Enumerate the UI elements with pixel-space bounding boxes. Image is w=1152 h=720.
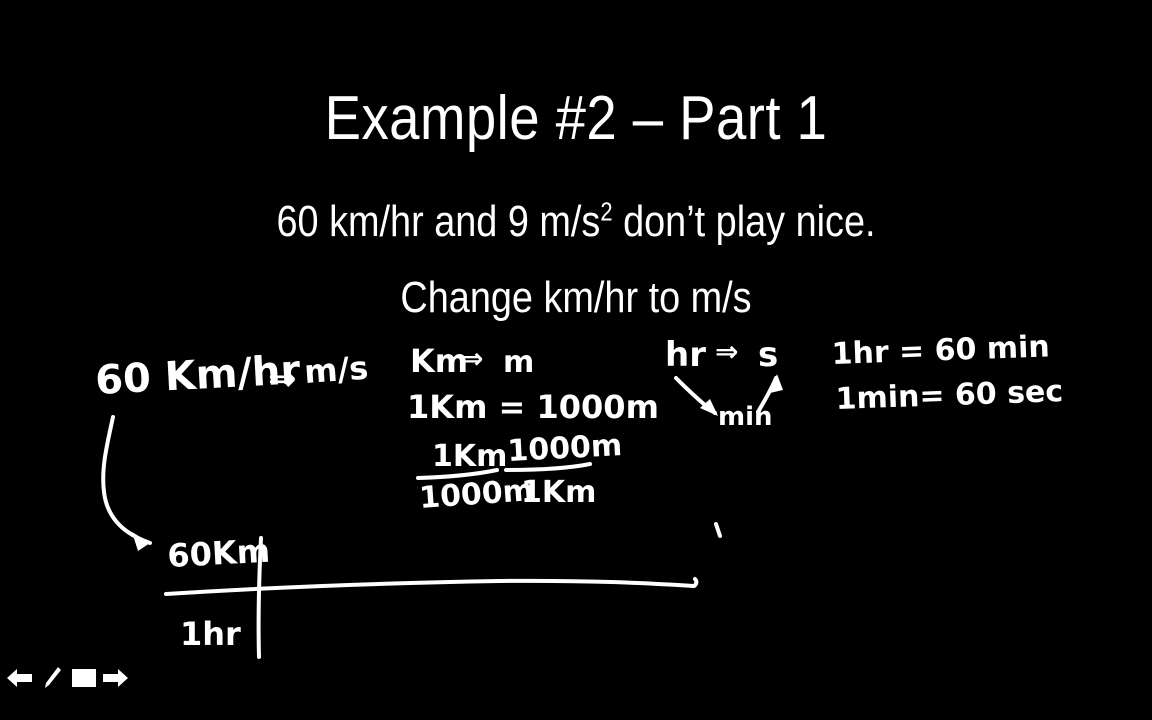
given-target-text: m/s	[303, 349, 370, 391]
subtitle-line-1-superscript: 2	[600, 198, 612, 226]
time-equality-group: 1hr = 60 min 1min= 60 sec	[831, 329, 1064, 417]
subtitle-line-1-text: 60 km/hr and 9 m/s	[276, 197, 600, 246]
flow-arrow-to-setup	[103, 417, 150, 551]
time-heading-to: s	[758, 335, 778, 375]
subtitle-line-1: 60 km/hr and 9 m/s2 don’t play nice.	[81, 199, 1072, 245]
time-heading-from: hr	[665, 335, 706, 375]
stray-tick-mark	[716, 524, 720, 536]
distance-equality: 1Km = 1000m	[407, 388, 659, 426]
right-arrow-icon	[102, 667, 129, 689]
setup-vertical-divider	[259, 538, 261, 657]
pen-tool-button[interactable]	[38, 665, 65, 692]
ratio-left-denominator: 1000m	[418, 473, 535, 516]
stop-button[interactable]	[70, 665, 97, 692]
time-intermediate: min	[718, 402, 773, 432]
distance-conversion-group: Km ⇒ m 1Km = 1000m	[407, 342, 659, 426]
distance-heading-from: Km	[410, 342, 468, 380]
subtitle-line-2: Change km/hr to m/s	[81, 275, 1072, 321]
distance-heading-to: m	[503, 345, 534, 380]
subtitle-line-1-tail: don’t play nice.	[613, 197, 876, 246]
given-expression-group: 60 Km/hr ⇒ m/s	[94, 347, 369, 404]
time-conversion-group: hr ⇒ s min	[665, 335, 783, 432]
page-title: Example #2 – Part 1	[69, 86, 1083, 151]
pen-icon	[42, 666, 62, 690]
lecture-slide: Example #2 – Part 1 60 km/hr and 9 m/s2 …	[0, 0, 1152, 720]
ratio-left-numerator: 1Km	[432, 439, 507, 474]
time-heading-arrow: ⇒	[715, 335, 738, 368]
square-stop-icon	[71, 667, 97, 689]
ratio-right: 1000m 1Km	[506, 428, 623, 510]
given-arrow-text: ⇒	[268, 359, 297, 399]
distance-heading-arrow: ⇒	[460, 342, 483, 375]
time-equality-1: 1hr = 60 min	[831, 329, 1050, 372]
time-equality-2: 1min= 60 sec	[835, 374, 1064, 417]
ratio-left: 1Km 1000m	[418, 439, 535, 516]
playback-toolbar[interactable]	[6, 663, 129, 693]
given-expression-text: 60 Km/hr	[94, 347, 301, 404]
ratio-right-denominator: 1Km	[521, 475, 596, 510]
ratio-right-numerator: 1000m	[507, 428, 623, 469]
left-arrow-icon	[6, 667, 33, 689]
setup-fraction-group: 60Km 1hr	[166, 532, 696, 657]
previous-slide-button[interactable]	[6, 665, 33, 692]
next-slide-button[interactable]	[102, 665, 129, 692]
setup-numerator: 60Km	[166, 532, 271, 575]
setup-denominator: 1hr	[180, 615, 241, 653]
